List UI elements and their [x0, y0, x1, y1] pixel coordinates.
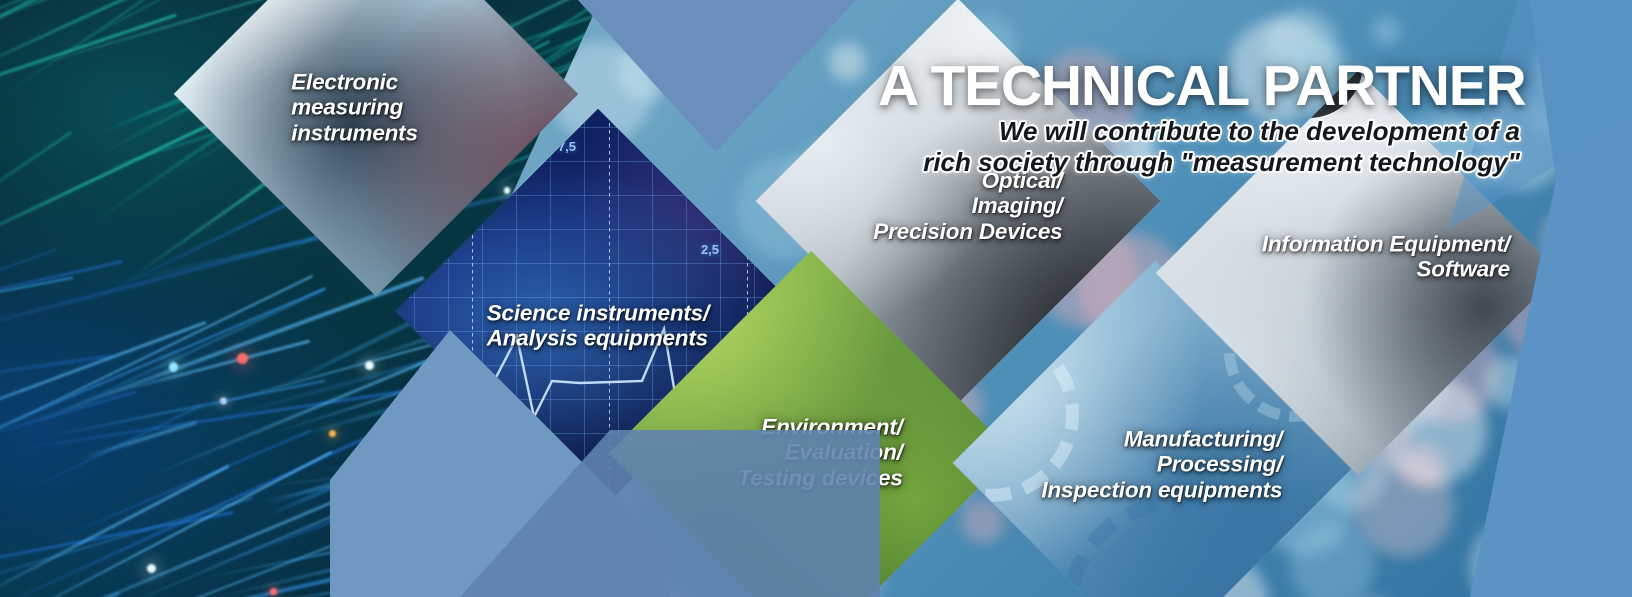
hero-banner: Electronic measuring instruments 7,5 2,5…	[0, 0, 1632, 597]
scope-reading: 2,5	[701, 242, 719, 257]
banner-tagline: We will contribute to the development of…	[923, 116, 1520, 177]
banner-headline: A TECHNICAL PARTNER	[878, 53, 1525, 119]
